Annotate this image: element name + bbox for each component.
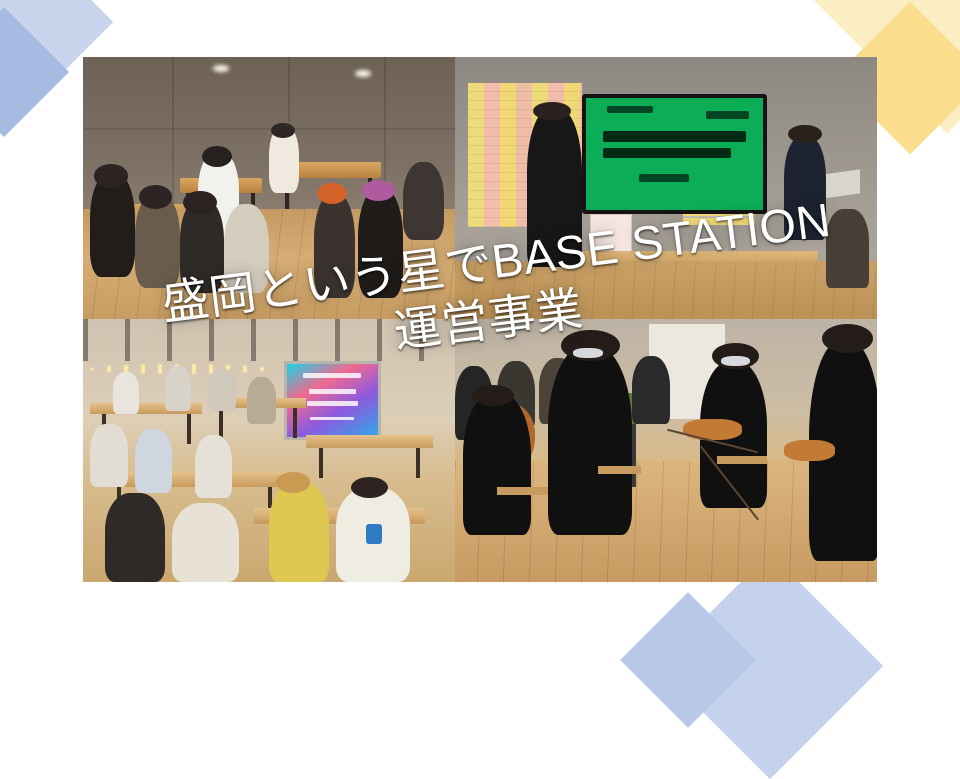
person (247, 377, 277, 424)
face-mask (721, 356, 751, 367)
person (165, 366, 191, 411)
person-head (271, 123, 295, 139)
decor-diamond-top-left-dark (0, 7, 69, 137)
person (195, 435, 232, 498)
presentation-display (582, 94, 768, 215)
person-head (533, 102, 571, 120)
musician-cellist (463, 393, 531, 535)
screen-text-line (307, 401, 358, 406)
person (135, 429, 172, 492)
screen-headline-2 (603, 148, 731, 158)
photo-green-screen-presentation (455, 57, 877, 319)
person-head (94, 164, 127, 188)
ceiling-light (213, 65, 229, 72)
table (306, 435, 432, 448)
person-head (351, 477, 388, 498)
chair (497, 487, 548, 495)
person (209, 369, 235, 411)
person (403, 162, 444, 241)
photo-collage (83, 57, 877, 582)
screen-text-line (309, 389, 356, 394)
photo-hall-colorful-screen (83, 319, 455, 582)
person (224, 204, 269, 293)
person (314, 193, 355, 298)
person-head (183, 191, 216, 215)
wall-seam (83, 128, 455, 130)
person (113, 372, 139, 414)
person-presenter (784, 136, 826, 241)
face-mask (573, 348, 603, 359)
person (90, 172, 135, 277)
person-speaker (527, 109, 582, 266)
chair (598, 466, 640, 474)
person-foreground (172, 503, 239, 582)
ceiling-beams (83, 319, 455, 361)
person-yellow-shirt (269, 482, 329, 582)
screen-text-line (310, 417, 354, 421)
person-foreground (105, 493, 165, 582)
screen-text-line (303, 373, 361, 378)
person-head (472, 385, 514, 406)
person-head-cap (317, 183, 347, 204)
violin (784, 440, 835, 461)
screen-tag-top-right (706, 111, 749, 119)
screen-tag-top-left (607, 106, 653, 114)
ceiling-light (355, 70, 371, 77)
person (358, 188, 403, 298)
person-head (276, 472, 309, 493)
person (826, 209, 868, 288)
audience-member (632, 356, 670, 424)
person-head (822, 324, 873, 353)
photo-workshop-concrete (83, 57, 455, 319)
screen-headline-1 (603, 131, 745, 141)
green-screen (586, 98, 764, 211)
decor-diamond-bottom-right-light (657, 553, 883, 779)
musician-foreground (548, 345, 632, 534)
tshirt-logo (366, 524, 382, 544)
screen-tag-bottom (639, 174, 689, 182)
person-head (139, 185, 172, 209)
photo-string-ensemble (455, 319, 877, 582)
wood-floor (455, 261, 877, 319)
chair (717, 456, 768, 464)
person (90, 424, 127, 487)
decor-diamond-bottom-right-dark (620, 592, 756, 728)
person-head (202, 146, 232, 167)
